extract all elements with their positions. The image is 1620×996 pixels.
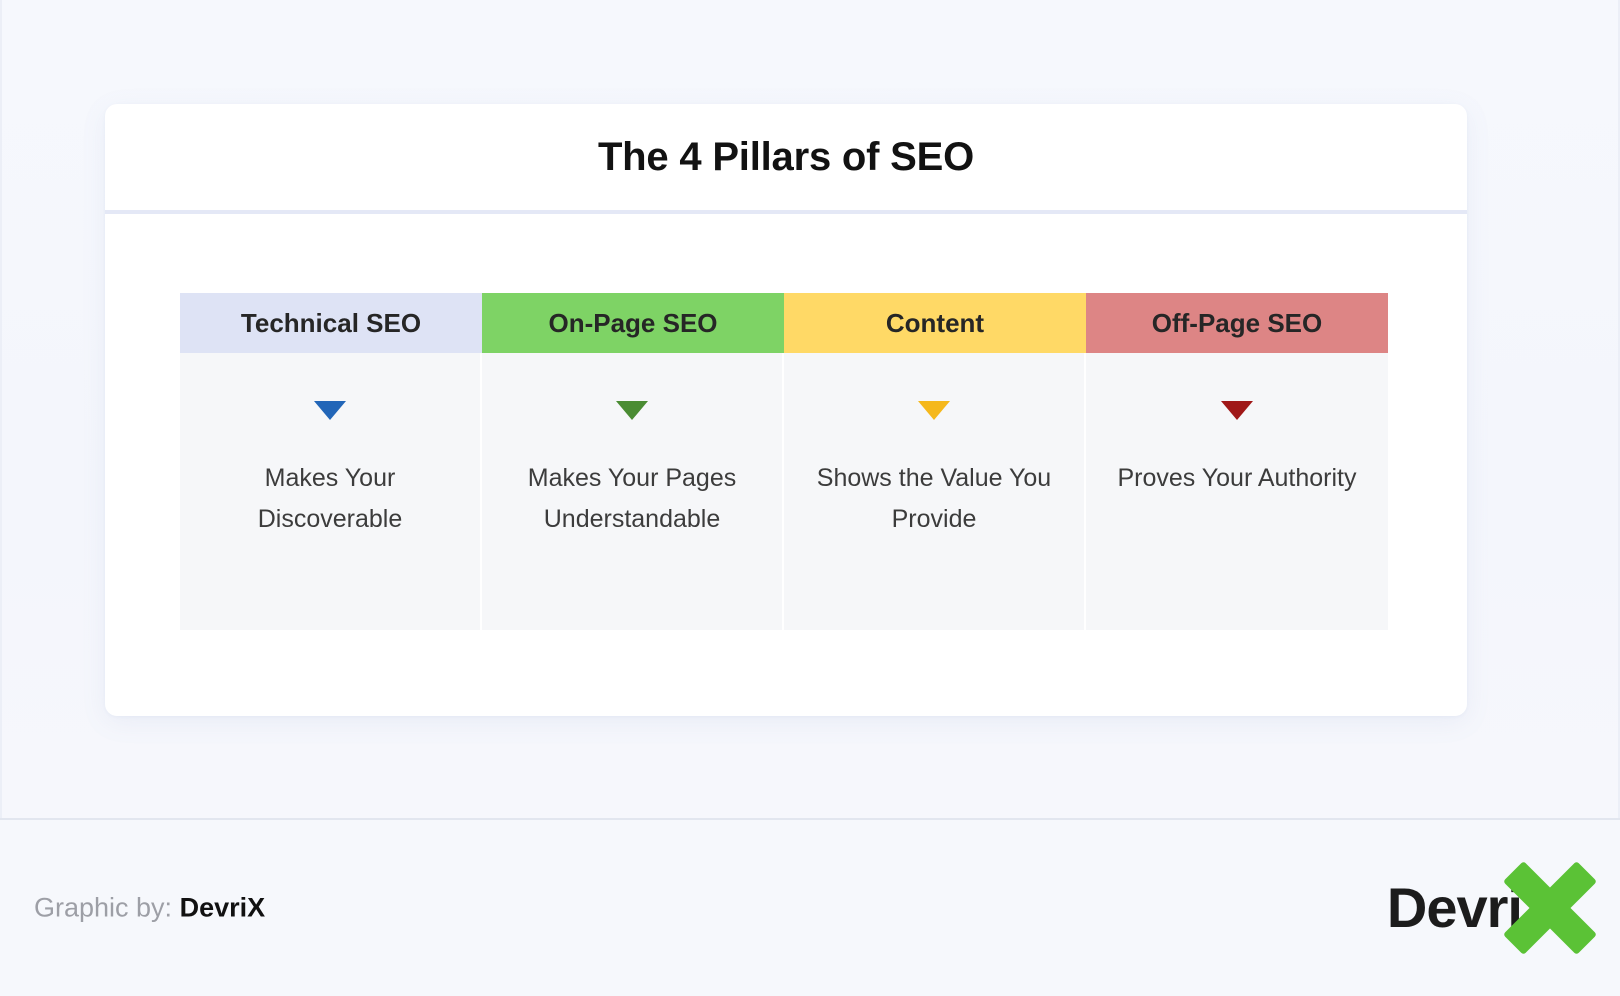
footer-bar: Graphic by: DevriX Devri xyxy=(0,818,1620,996)
triangle-down-icon xyxy=(918,401,950,420)
pillar-column-off-page-seo: Off-Page SEO Proves Your Authority xyxy=(1086,293,1388,630)
pillar-header-content: Content xyxy=(784,293,1086,353)
credit-label: Graphic by: xyxy=(34,893,172,923)
pillar-body-on-page-seo: Makes Your Pages Understandable xyxy=(482,353,784,630)
pillar-header-off-page-seo: Off-Page SEO xyxy=(1086,293,1388,353)
triangle-down-icon xyxy=(1221,401,1253,420)
pillar-body-content: Shows the Value You Provide xyxy=(784,353,1086,630)
pillar-description-on-page-seo: Makes Your Pages Understandable xyxy=(482,458,782,540)
pillar-body-off-page-seo: Proves Your Authority xyxy=(1086,353,1388,630)
infographic-card: The 4 Pillars of SEO Technical SEO Makes… xyxy=(105,104,1467,716)
pillar-description-off-page-seo: Proves Your Authority xyxy=(1103,458,1370,499)
credit-line: Graphic by: DevriX xyxy=(34,893,265,924)
pillar-header-technical-seo: Technical SEO xyxy=(180,293,482,353)
pillar-column-technical-seo: Technical SEO Makes Your Discoverable xyxy=(180,293,482,630)
pillar-description-technical-seo: Makes Your Discoverable xyxy=(180,458,480,540)
triangle-down-icon xyxy=(616,401,648,420)
infographic-area: The 4 Pillars of SEO Technical SEO Makes… xyxy=(0,0,1620,818)
page-title: The 4 Pillars of SEO xyxy=(598,135,974,180)
pillar-header-on-page-seo: On-Page SEO xyxy=(482,293,784,353)
pillar-description-content: Shows the Value You Provide xyxy=(784,458,1084,540)
card-header: The 4 Pillars of SEO xyxy=(105,104,1467,214)
pillars-table: Technical SEO Makes Your Discoverable On… xyxy=(180,293,1392,630)
pillar-body-technical-seo: Makes Your Discoverable xyxy=(180,353,482,630)
left-edge-line xyxy=(0,0,2,818)
pillar-column-on-page-seo: On-Page SEO Makes Your Pages Understanda… xyxy=(482,293,784,630)
triangle-down-icon xyxy=(314,401,346,420)
devrix-logo[interactable]: Devri xyxy=(1387,863,1598,953)
logo-x-mark-icon xyxy=(1502,864,1598,952)
pillar-column-content: Content Shows the Value You Provide xyxy=(784,293,1086,630)
credit-brand-name: DevriX xyxy=(180,893,266,923)
